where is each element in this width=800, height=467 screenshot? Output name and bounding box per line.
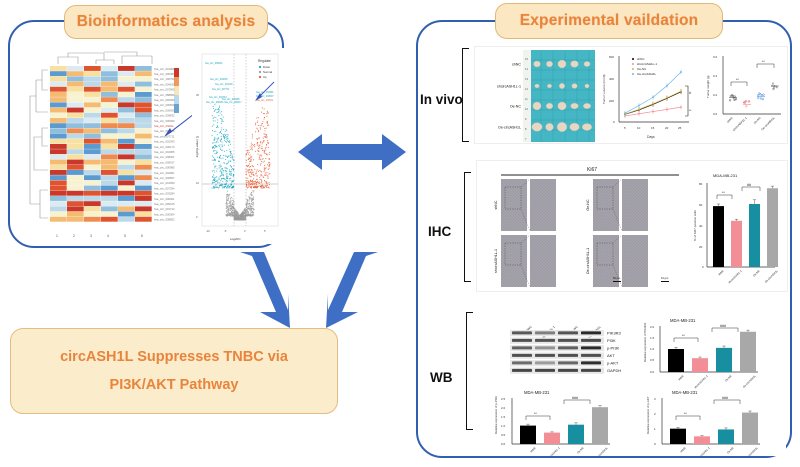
conclusion-line-1: circASH1L Suppresses TNBC via (60, 343, 288, 371)
svg-text:shcircASH1L-1: shcircASH1L-1 (497, 85, 521, 89)
svg-text:hsa_circ_000985: hsa_circ_000985 (222, 98, 240, 101)
svg-text:Oe-circASH1L: Oe-circASH1L (744, 446, 759, 456)
svg-text:GAPDH: GAPDH (607, 368, 621, 373)
svg-text:5: 5 (264, 229, 266, 233)
diagonal-arrow-down-left (316, 250, 384, 332)
svg-text:Oe-circASH1L: Oe-circASH1L (764, 269, 779, 284)
svg-text:shNC: shNC (637, 57, 645, 61)
svg-text:25: 25 (678, 126, 682, 130)
svg-text:hsa_circ_002991: hsa_circ_002991 (154, 171, 175, 175)
svg-text:p-PI3K: p-PI3K (607, 346, 620, 351)
svg-text:shcircASH1L-1: shcircASH1L-1 (693, 374, 709, 390)
svg-text:PI3K: PI3K (607, 338, 616, 343)
svg-text:Tumor volume (mm3): Tumor volume (mm3) (602, 75, 606, 104)
bracket-ihc (464, 172, 471, 282)
svg-text:MDA-MB-231: MDA-MB-231 (670, 318, 696, 323)
svg-text:Oe-NC: Oe-NC (510, 105, 522, 109)
svg-text:**: ** (722, 191, 725, 195)
svg-text:shcircASH1L-1: shcircASH1L-1 (732, 116, 748, 132)
svg-text:-log10(p.value): -log10(p.value) (195, 139, 199, 158)
svg-text:1.5: 1.5 (650, 336, 655, 340)
svg-text:30: 30 (196, 93, 199, 97)
volcano-svg: Regulate Down Normal Up hsa_circ_009601 … (192, 48, 284, 244)
svg-text:-10: -10 (206, 229, 210, 233)
svg-text:20: 20 (699, 245, 703, 249)
svg-text:hsa_circ_009601: hsa_circ_009601 (205, 62, 223, 65)
svg-text:hsa_circ_088866: hsa_circ_088866 (154, 93, 175, 97)
tumor-weight-chart: 0.60.4 0.20.0 Tumor weight (g) ** ** shN… (701, 48, 789, 144)
svg-text:40: 40 (699, 224, 703, 228)
svg-text:hsa_circ_001712: hsa_circ_001712 (154, 207, 175, 211)
svg-text:shNC: shNC (512, 63, 521, 67)
ihc-figure-row: Ki67 50 μm10 μm shNCshcircASH1L-1Oe-NCOe… (476, 160, 788, 292)
conclusion-box: circASH1L Suppresses TNBC via PI3K/AKT P… (10, 328, 338, 414)
ihc-stain-title: Ki67 (587, 167, 597, 173)
svg-text:0: 0 (613, 120, 615, 124)
svg-text:50 μm: 50 μm (613, 276, 620, 280)
svg-text:hsa_circ_000501: hsa_circ_000501 (154, 103, 175, 107)
svg-text:Oe-circASH1L: Oe-circASH1L (742, 374, 757, 389)
svg-text:1: 1 (56, 234, 58, 238)
svg-text:0.4: 0.4 (713, 74, 718, 78)
svg-text:0.0: 0.0 (650, 370, 655, 374)
svg-text:hsa_circ_008852: hsa_circ_008852 (154, 218, 175, 222)
svg-text:hsa_circ_009017: hsa_circ_009017 (154, 160, 175, 164)
svg-text:Relative expression of PIK3R3: Relative expression of PIK3R3 (643, 322, 647, 362)
graphical-abstract: Bioinformatics analysis (0, 0, 800, 467)
svg-text:#: # (689, 91, 691, 95)
svg-text:hsa_circ_000487: hsa_circ_000487 (154, 72, 175, 76)
svg-text:600: 600 (609, 55, 614, 59)
svg-text:Oe-circASH1L: Oe-circASH1L (498, 126, 521, 130)
svg-text:shcircASH1L-1: shcircASH1L-1 (695, 446, 711, 456)
svg-text:0.5: 0.5 (501, 433, 506, 437)
svg-text:Oe-NC: Oe-NC (726, 446, 735, 455)
svg-text:MDA-MB-231: MDA-MB-231 (672, 390, 698, 395)
bioinformatics-header: Bioinformatics analysis (64, 5, 268, 39)
svg-text:hsa_circ_007354: hsa_circ_007354 (154, 186, 175, 190)
heatmap-pointer-arrow (162, 112, 196, 138)
heatmap-svg: 12 34 56 hsa_circ_001901hsa_circ_000487h… (26, 50, 186, 240)
svg-text:Oe-NC: Oe-NC (586, 199, 590, 211)
section-label-wb: WB (430, 370, 453, 385)
experimental-header: Experimental vaildation (495, 3, 723, 39)
svg-text:hsa_circ_008461 hsa_circ_00901: hsa_circ_008461 hsa_circ_009017 (206, 101, 242, 104)
svg-text:shNC: shNC (677, 374, 685, 382)
svg-text:hsa_circ_001050: hsa_circ_001050 (154, 181, 175, 185)
svg-text:5: 5 (124, 234, 126, 238)
svg-text:hsa_circ_100790: hsa_circ_100790 (154, 77, 175, 81)
svg-text:0.5: 0.5 (650, 358, 655, 362)
svg-text:-5: -5 (224, 229, 227, 233)
svg-text:1.0: 1.0 (501, 424, 506, 428)
svg-text:0.0: 0.0 (501, 442, 506, 446)
svg-text:Oe-NC: Oe-NC (724, 374, 733, 383)
svg-text:Relative expression of p-PI3K: Relative expression of p-PI3K (494, 396, 498, 434)
svg-text:shNC: shNC (679, 446, 687, 454)
svg-text:hsa_circ_004065: hsa_circ_004065 (210, 78, 228, 81)
svg-text:MDA-MB-231: MDA-MB-231 (713, 173, 738, 178)
tumor-photo: 789101112131415 shNCshcircASH1L-1Oe-NCOe… (477, 48, 597, 144)
section-label-ihc: IHC (428, 224, 451, 239)
svg-text:2.0: 2.0 (650, 325, 655, 329)
svg-text:hsa_circ_002343: hsa_circ_002343 (154, 140, 175, 144)
svg-text:Down: Down (263, 65, 271, 69)
svg-text:hsa_circ_000304: hsa_circ_000304 (154, 212, 175, 216)
svg-text:hsa_circ_000507: hsa_circ_000507 (154, 176, 175, 180)
svg-text:Log2FC: Log2FC (230, 237, 242, 241)
svg-text:Days: Days (647, 135, 655, 139)
svg-text:**: ** (762, 60, 765, 64)
svg-text:###: ### (720, 324, 726, 328)
svg-text:**: ** (684, 412, 687, 416)
svg-text:10: 10 (637, 126, 641, 130)
volcano-plot-figure: Regulate Down Normal Up hsa_circ_009601 … (192, 48, 284, 244)
svg-text:hsa_circ_001901: hsa_circ_001901 (154, 67, 175, 71)
svg-text:shcircASH1L-1: shcircASH1L-1 (545, 446, 561, 456)
bracket-wb (466, 312, 473, 430)
svg-text:1.5: 1.5 (501, 415, 506, 419)
svg-text:**: ** (689, 109, 692, 113)
svg-text:hsa_circ_ASH1L: hsa_circ_ASH1L (256, 99, 274, 102)
svg-text:p-AKT: p-AKT (607, 361, 619, 366)
svg-text:0.2: 0.2 (713, 93, 718, 97)
svg-text:shNC: shNC (529, 446, 537, 454)
svg-text:Regulate: Regulate (258, 59, 271, 63)
svg-text:###: ### (572, 396, 578, 400)
svg-text:0.0: 0.0 (713, 112, 718, 116)
svg-text:10: 10 (196, 181, 199, 185)
svg-text:##: ## (747, 183, 751, 187)
svg-text:hsa_circ_002060: hsa_circ_002060 (154, 98, 175, 102)
svg-text:80: 80 (699, 182, 703, 186)
svg-text:MDA-MB-231: MDA-MB-231 (524, 390, 550, 395)
svg-text:6: 6 (141, 234, 143, 238)
svg-text:Oe-NC: Oe-NC (576, 446, 585, 455)
svg-text:hsa_circ_009415: hsa_circ_009415 (154, 202, 175, 206)
svg-text:hsa_circ_001238: hsa_circ_001238 (215, 83, 233, 86)
svg-text:hsa_circ_007711: hsa_circ_007711 (212, 88, 230, 91)
svg-text:Normal: Normal (263, 70, 272, 74)
svg-text:AKT: AKT (607, 353, 615, 358)
svg-text:0: 0 (702, 265, 704, 269)
svg-text:**: ** (534, 412, 537, 416)
svg-text:shcircASH1L-1: shcircASH1L-1 (637, 62, 657, 66)
svg-text:Up: Up (263, 75, 267, 79)
svg-text:hsa_circ_003284: hsa_circ_003284 (154, 192, 175, 196)
svg-text:shNC: shNC (717, 269, 725, 277)
svg-text:1: 1 (654, 427, 656, 431)
svg-text:**: ** (682, 334, 685, 338)
wb-figure-row: shNCshcircASH1L-1Oe-NCOe-circASH1L PIK3R… (478, 308, 786, 456)
svg-text:Oe-NC: Oe-NC (637, 67, 647, 71)
svg-text:hsa_circ_008461: hsa_circ_008461 (154, 155, 175, 159)
svg-text:2: 2 (73, 234, 75, 238)
svg-text:shNC: shNC (494, 200, 498, 209)
svg-text:1.0: 1.0 (650, 347, 655, 351)
diagonal-arrow-down-right (236, 250, 296, 332)
svg-text:hsa_circ_007905: hsa_circ_007905 (154, 88, 175, 92)
svg-text:10 μm: 10 μm (661, 276, 668, 280)
svg-text:400: 400 (609, 77, 614, 81)
svg-text:hsa_circ_006461: hsa_circ_006461 (154, 197, 175, 201)
svg-text:Oe-circASH1L: Oe-circASH1L (594, 446, 609, 456)
svg-text:shcircASH1L-1: shcircASH1L-1 (727, 269, 743, 285)
svg-text:PIK3R3: PIK3R3 (607, 331, 622, 336)
svg-text:Relative expression of p-AKT: Relative expression of p-AKT (646, 396, 650, 434)
svg-text:shcircASH1L-1: shcircASH1L-1 (494, 249, 498, 273)
svg-text:5: 5 (624, 126, 626, 130)
svg-text:0: 0 (196, 215, 198, 219)
svg-text:0: 0 (654, 442, 656, 446)
svg-text:Oe-circASH1L: Oe-circASH1L (760, 116, 776, 132)
svg-text:20: 20 (665, 126, 669, 130)
svg-text:hsa_circ_004065: hsa_circ_004065 (154, 150, 175, 154)
svg-text:hsa_circ_000985: hsa_circ_000985 (154, 166, 175, 170)
double-headed-arrow (296, 128, 408, 176)
section-label-in-vivo: In vivo (420, 92, 463, 107)
svg-text:200: 200 (609, 99, 614, 103)
svg-text:4: 4 (107, 234, 109, 238)
svg-text:Oe-NC: Oe-NC (753, 116, 762, 125)
svg-text:2.0: 2.0 (501, 406, 506, 410)
svg-text:Oe-circASH1L: Oe-circASH1L (637, 72, 657, 76)
svg-text:Oe-circASH1L-1: Oe-circASH1L-1 (586, 248, 590, 274)
svg-text:**: ** (736, 78, 739, 82)
svg-text:% of Ki67-positive cells: % of Ki67-positive cells (693, 210, 697, 241)
svg-text:3: 3 (90, 234, 92, 238)
svg-text:60: 60 (699, 203, 703, 207)
wb-svg: shNCshcircASH1L-1Oe-NCOe-circASH1L PIK3R… (478, 308, 786, 456)
svg-text:20: 20 (196, 135, 199, 139)
svg-text:2: 2 (654, 412, 656, 416)
in-vivo-figure-row: 789101112131415 shNCshcircASH1L-1Oe-NCOe… (474, 46, 788, 144)
tumor-growth-chart: 600400 2000 Tumor volume (mm3) 510 1520 … (595, 48, 699, 144)
svg-text:0.6: 0.6 (713, 55, 718, 59)
svg-text:hsa_circ_004183: hsa_circ_004183 (154, 82, 175, 86)
conclusion-line-2: PI3K/AKT Pathway (110, 371, 239, 399)
svg-text:Oe-NC: Oe-NC (752, 269, 761, 278)
svg-text:2.5: 2.5 (501, 397, 506, 401)
svg-text:15: 15 (651, 126, 655, 130)
heatmap-figure: 12 34 56 hsa_circ_001901hsa_circ_000487h… (26, 50, 186, 240)
svg-text:shNC: shNC (726, 116, 734, 124)
svg-text:Tumor weight (g): Tumor weight (g) (706, 75, 710, 98)
svg-text:3: 3 (654, 397, 656, 401)
bracket-in-vivo (462, 48, 469, 142)
ihc-svg: Ki67 50 μm10 μm shNCshcircASH1L-1Oe-NCOe… (477, 161, 789, 293)
svg-text:hsa_circ_000173: hsa_circ_000173 (154, 145, 175, 149)
svg-text:###: ### (722, 396, 728, 400)
svg-text:0: 0 (244, 229, 246, 233)
